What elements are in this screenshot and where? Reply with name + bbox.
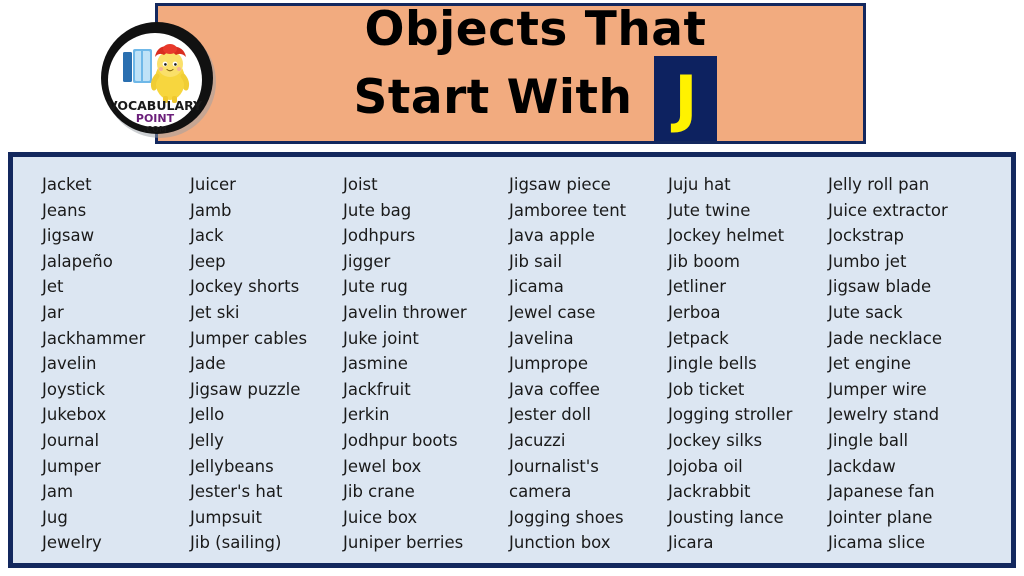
logo-text-domain: .COM — [143, 125, 167, 134]
word-item: Jalapeño — [42, 249, 184, 275]
word-item: Jingle bells — [668, 351, 822, 377]
word-item: Jicama — [509, 274, 662, 300]
word-item: Jerkin — [343, 402, 502, 428]
word-item: Jogging shoes — [509, 505, 662, 531]
word-item: Junction box — [509, 530, 662, 556]
word-item: Jar — [42, 300, 184, 326]
word-item: Jockey helmet — [668, 223, 822, 249]
word-item: Jigsaw piece — [509, 172, 662, 198]
word-item: Journalist's — [509, 454, 662, 480]
book-icon — [123, 49, 152, 83]
word-column-4: Jigsaw pieceJamboree tentJava appleJib s… — [502, 172, 662, 556]
word-item: Jetliner — [668, 274, 822, 300]
word-item: Jackdaw — [828, 454, 1002, 480]
word-item: Jib crane — [343, 479, 502, 505]
word-item: Jukebox — [42, 402, 184, 428]
letter-badge-j: J — [654, 56, 717, 141]
word-item: Jodhpur boots — [343, 428, 502, 454]
word-item: Jacuzzi — [509, 428, 662, 454]
word-item: Japanese fan — [828, 479, 1002, 505]
word-item: Jetpack — [668, 326, 822, 352]
word-item: Jojoba oil — [668, 454, 822, 480]
word-item: Jumbo jet — [828, 249, 1002, 275]
word-item: Jellybeans — [190, 454, 339, 480]
word-item: Jet engine — [828, 351, 1002, 377]
word-item: Journal — [42, 428, 184, 454]
word-item: Juicer — [190, 172, 339, 198]
word-column-6: Jelly roll panJuice extractorJockstrapJu… — [822, 172, 1002, 556]
word-item: Jockey shorts — [190, 274, 339, 300]
word-item: Java apple — [509, 223, 662, 249]
page-title-line-2: Start With — [354, 74, 633, 123]
word-item: Jicama slice — [828, 530, 1002, 556]
word-item: Juice box — [343, 505, 502, 531]
word-item: Jewel box — [343, 454, 502, 480]
word-item: Jockey silks — [668, 428, 822, 454]
logo-text-vocabulary: VOCABULARY — [108, 98, 203, 113]
word-item: Juke joint — [343, 326, 502, 352]
word-item: Jousting lance — [668, 505, 822, 531]
word-column-3: JoistJute bagJodhpursJiggerJute rugJavel… — [339, 172, 502, 556]
word-item: Javelin — [42, 351, 184, 377]
word-item: Juice extractor — [828, 198, 1002, 224]
word-item: Jigsaw puzzle — [190, 377, 339, 403]
word-item: Jigger — [343, 249, 502, 275]
word-item: Jack — [190, 223, 339, 249]
title-line-2: Start With J — [354, 54, 718, 141]
word-item: Javelin thrower — [343, 300, 502, 326]
word-item: Jigsaw — [42, 223, 184, 249]
page-title-line-1: Objects That — [365, 6, 707, 55]
word-item: Jodhpurs — [343, 223, 502, 249]
word-item: Joystick — [42, 377, 184, 403]
word-item: Joist — [343, 172, 502, 198]
word-item: Jeans — [42, 198, 184, 224]
word-item: Jib (sailing) — [190, 530, 339, 556]
word-item: Jute bag — [343, 198, 502, 224]
word-item: Jicara — [668, 530, 822, 556]
word-item: Jogging stroller — [668, 402, 822, 428]
title-line-1: Objects That — [365, 6, 707, 55]
word-item: Jasmine — [343, 351, 502, 377]
word-item: Jewel case — [509, 300, 662, 326]
vocabulary-point-logo: VOCABULARY POINT .COM — [97, 18, 219, 140]
word-item: Jewelry — [42, 530, 184, 556]
word-item: Jute twine — [668, 198, 822, 224]
word-item: Jute sack — [828, 300, 1002, 326]
word-column-1: JacketJeansJigsawJalapeñoJetJarJackhamme… — [21, 172, 184, 556]
word-item: Job ticket — [668, 377, 822, 403]
word-item: Jello — [190, 402, 339, 428]
word-item: Jerboa — [668, 300, 822, 326]
word-item: Jacket — [42, 172, 184, 198]
word-item: Jelly — [190, 428, 339, 454]
word-item: Jamb — [190, 198, 339, 224]
word-item: Java coffee — [509, 377, 662, 403]
word-item: Juniper berries — [343, 530, 502, 556]
word-item: Jumper — [42, 454, 184, 480]
word-item: Jewelry stand — [828, 402, 1002, 428]
word-item: Juju hat — [668, 172, 822, 198]
word-item: Jumprope — [509, 351, 662, 377]
word-item: Jigsaw blade — [828, 274, 1002, 300]
word-item: Jamboree tent — [509, 198, 662, 224]
word-item: Jet — [42, 274, 184, 300]
word-item: Jumper cables — [190, 326, 339, 352]
word-item: Jet ski — [190, 300, 339, 326]
word-item: Jute rug — [343, 274, 502, 300]
header-banner: Objects That Start With J — [155, 3, 866, 144]
word-item: Jockstrap — [828, 223, 1002, 249]
word-item: Jib sail — [509, 249, 662, 275]
word-item: Jackrabbit — [668, 479, 822, 505]
word-column-2: JuicerJambJackJeepJockey shortsJet skiJu… — [184, 172, 339, 556]
word-item: Jester doll — [509, 402, 662, 428]
word-list-panel: JacketJeansJigsawJalapeñoJetJarJackhamme… — [8, 152, 1016, 568]
word-item: Jumpsuit — [190, 505, 339, 531]
word-item: Jackhammer — [42, 326, 184, 352]
word-item: camera — [509, 479, 662, 505]
word-item: Jam — [42, 479, 184, 505]
word-item: Jade necklace — [828, 326, 1002, 352]
word-item: Jib boom — [668, 249, 822, 275]
word-item: Jingle ball — [828, 428, 1002, 454]
logo-text-point: POINT — [136, 112, 175, 125]
word-item: Jointer plane — [828, 505, 1002, 531]
word-column-5: Juju hatJute twineJockey helmetJib boomJ… — [662, 172, 822, 556]
word-item: Jug — [42, 505, 184, 531]
word-item: Jade — [190, 351, 339, 377]
word-item: Jester's hat — [190, 479, 339, 505]
word-item: Jackfruit — [343, 377, 502, 403]
word-item: Jelly roll pan — [828, 172, 1002, 198]
word-item: Jumper wire — [828, 377, 1002, 403]
logo-icon: VOCABULARY POINT .COM — [97, 18, 219, 140]
header-title-block: Objects That Start With J — [158, 6, 863, 142]
word-item: Javelina — [509, 326, 662, 352]
word-item: Jeep — [190, 249, 339, 275]
